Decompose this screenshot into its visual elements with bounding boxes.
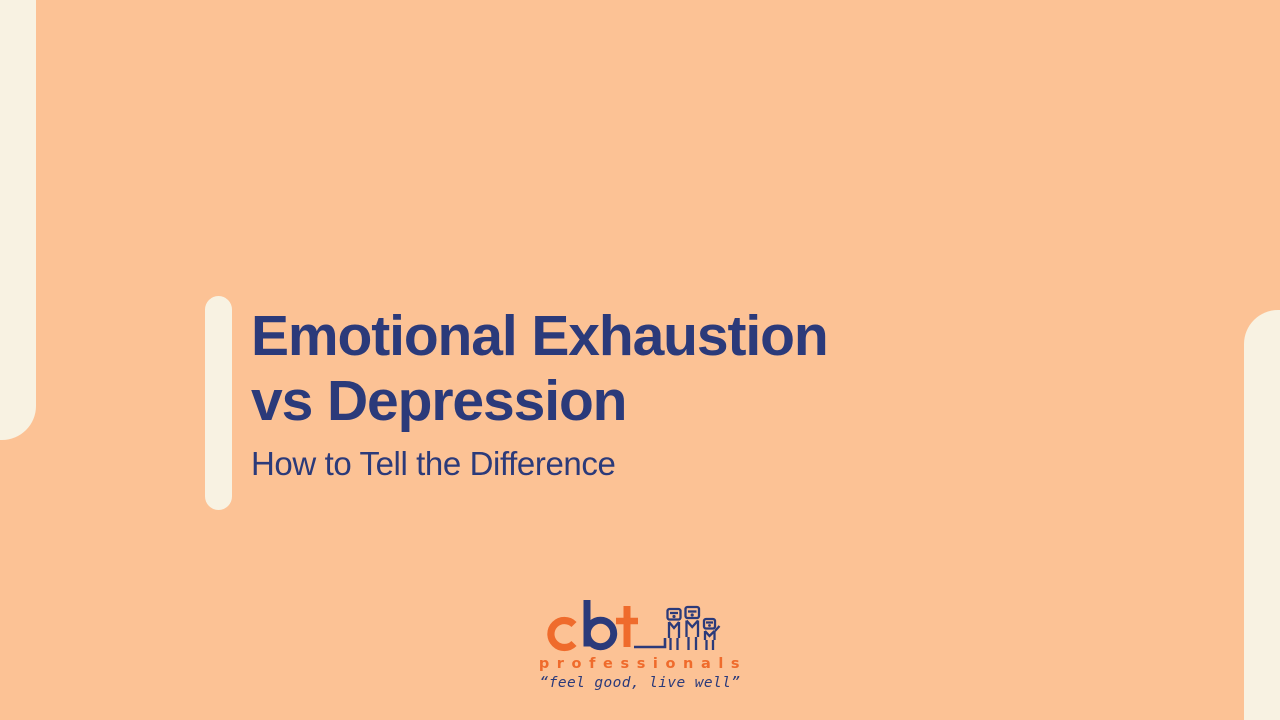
slide-canvas: Emotional Exhaustion vs Depression How t… <box>0 0 1280 720</box>
logo-tagline: “feel good, live well” <box>540 675 741 691</box>
subtitle: How to Tell the Difference <box>251 443 828 484</box>
decorative-strip-left <box>0 0 36 440</box>
title-text-group: Emotional Exhaustion vs Depression How t… <box>251 304 828 484</box>
accent-bar <box>205 296 232 510</box>
logo-lettermark-and-figures-icon <box>536 598 744 658</box>
logo-wordmark: professionals <box>533 656 747 672</box>
headline-line-2: vs Depression <box>251 369 828 434</box>
brand-logo: professionals “feel good, live well” <box>0 598 1280 691</box>
title-block: Emotional Exhaustion vs Depression How t… <box>205 296 828 510</box>
logo-mark <box>536 598 744 658</box>
headline-line-1: Emotional Exhaustion <box>251 304 828 369</box>
